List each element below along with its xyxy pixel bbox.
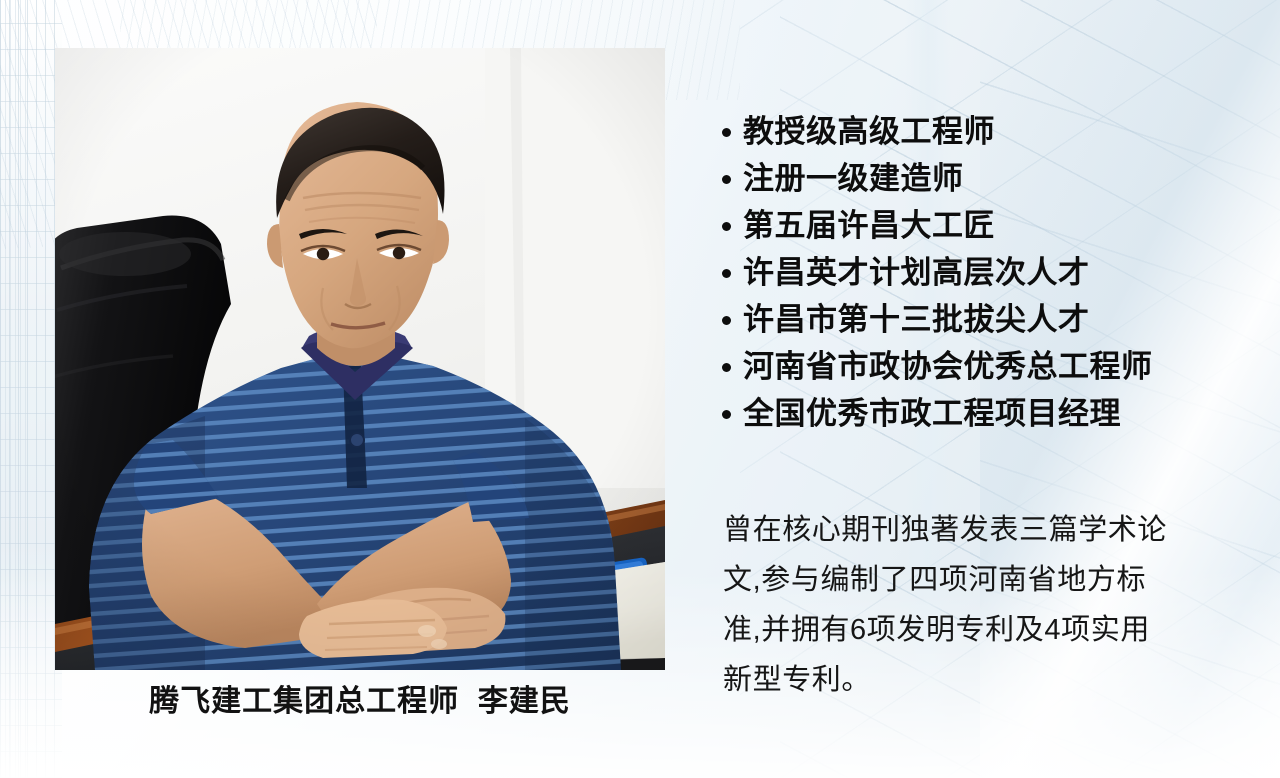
credentials-list: 教授级高级工程师 注册一级建造师 第五届许昌大工匠 许昌英才计划高层次人才 许昌…: [722, 108, 1153, 437]
paragraph-line: 新型专利。: [723, 655, 1268, 705]
bullet-dot-icon: [722, 410, 731, 419]
list-item-label: 全国优秀市政工程项目经理: [743, 397, 1121, 431]
list-item-label: 许昌市第十三批拔尖人才: [743, 303, 1090, 337]
bullet-dot-icon: [722, 222, 731, 231]
biography-paragraph: 曾在核心期刊独著发表三篇学术论 文,参与编制了四项河南省地方标 准,并拥有6项发…: [723, 505, 1268, 705]
list-item: 教授级高级工程师: [722, 108, 1153, 155]
paragraph-line: 文,参与编制了四项河南省地方标: [723, 555, 1268, 605]
list-item-label: 许昌英才计划高层次人才: [743, 256, 1090, 290]
list-item: 许昌英才计划高层次人才: [722, 249, 1153, 296]
photo-caption: 腾飞建工集团总工程师 李建民: [55, 684, 665, 720]
list-item: 第五届许昌大工匠: [722, 202, 1153, 249]
portrait-photo: [55, 48, 665, 670]
list-item-label: 河南省市政协会优秀总工程师: [743, 350, 1153, 384]
list-item-label: 教授级高级工程师: [743, 115, 995, 149]
bullet-dot-icon: [722, 128, 731, 137]
list-item: 河南省市政协会优秀总工程师: [722, 343, 1153, 390]
list-item-label: 第五届许昌大工匠: [743, 209, 995, 243]
list-item: 注册一级建造师: [722, 155, 1153, 202]
paragraph-line: 曾在核心期刊独著发表三篇学术论: [723, 505, 1268, 555]
bullet-dot-icon: [722, 269, 731, 278]
list-item: 许昌市第十三批拔尖人才: [722, 296, 1153, 343]
list-item-label: 注册一级建造师: [743, 162, 964, 196]
list-item: 全国优秀市政工程项目经理: [722, 390, 1153, 437]
bullet-dot-icon: [722, 363, 731, 372]
bullet-dot-icon: [722, 175, 731, 184]
bullet-dot-icon: [722, 316, 731, 325]
paragraph-line: 准,并拥有6项发明专利及4项实用: [723, 605, 1268, 655]
